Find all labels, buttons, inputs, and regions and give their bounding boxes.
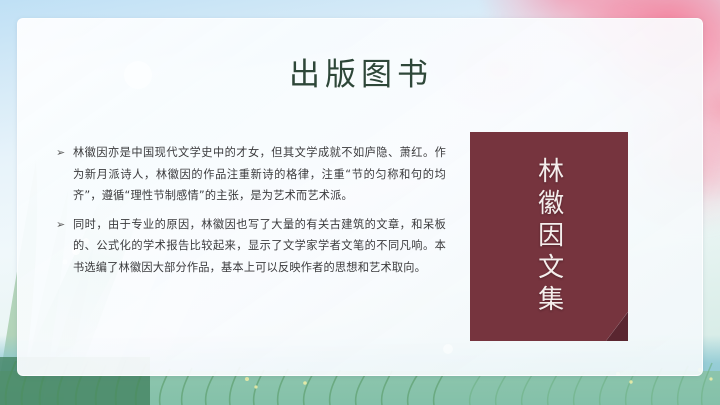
paragraph-text: 同时，由于专业的原因，林徽因也写了大量的有关古建筑的文章，和呆板的、公式化的学术… [73, 214, 446, 279]
book-cover-title-wrap: 林徽因文集 [470, 132, 628, 341]
book-cover-card: 林徽因文集 [470, 132, 628, 341]
bullet-arrow-icon: ➢ [56, 142, 73, 164]
paragraph-item: ➢ 林徽因亦是中国现代文学史中的才女，但其文学成就不如庐隐、萧红。作为新月派诗人… [56, 142, 446, 207]
slide-canvas: 出版图书 ➢ 林徽因亦是中国现代文学史中的才女，但其文学成就不如庐隐、萧红。作为… [0, 0, 720, 405]
body-text-block: ➢ 林徽因亦是中国现代文学史中的才女，但其文学成就不如庐隐、萧红。作为新月派诗人… [56, 142, 446, 285]
paragraph-text: 林徽因亦是中国现代文学史中的才女，但其文学成就不如庐隐、萧红。作为新月派诗人，林… [73, 142, 446, 207]
content-panel: 出版图书 ➢ 林徽因亦是中国现代文学史中的才女，但其文学成就不如庐隐、萧红。作为… [17, 18, 703, 376]
book-cover-title: 林徽因文集 [535, 157, 562, 317]
bullet-arrow-icon: ➢ [56, 214, 73, 236]
page-title: 出版图书 [18, 49, 704, 94]
paragraph-item: ➢ 同时，由于专业的原因，林徽因也写了大量的有关古建筑的文章，和呆板的、公式化的… [56, 214, 446, 279]
